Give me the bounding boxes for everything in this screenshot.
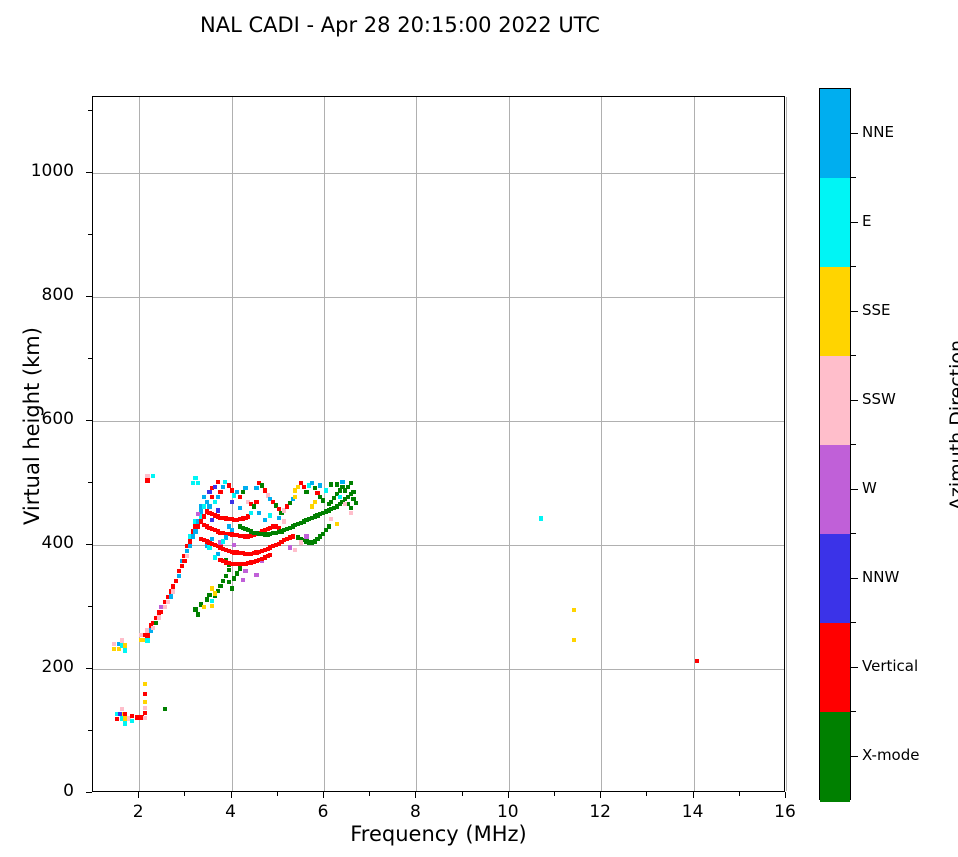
echo-marker [302,485,306,489]
echo-marker [210,604,214,608]
echo-marker [196,524,200,528]
x-tick-label: 4 [201,802,261,822]
x-tick-label: 14 [663,802,723,822]
echo-marker [171,589,175,593]
echo-marker [202,605,206,609]
colorbar-boundary-tick [851,266,856,267]
x-tick-label: 8 [385,802,445,822]
echo-marker [230,488,234,492]
colorbar-segment [820,712,850,802]
echo-marker [159,610,163,614]
echo-marker [207,545,211,549]
echo-marker [277,516,281,520]
echo-marker [185,554,189,558]
echo-marker [304,534,308,538]
colorbar-segment [820,356,850,446]
colorbar-tick-mark [851,133,858,134]
echo-marker [221,579,225,583]
x-tick-label: 16 [755,802,815,822]
echo-marker [151,626,155,630]
echo-marker [232,493,236,497]
echo-marker [143,682,147,686]
echo-marker [324,528,328,532]
x-tick-label: 2 [108,802,168,822]
echo-marker [235,490,239,494]
echo-marker [243,569,247,573]
echo-marker [193,607,197,611]
echo-marker [310,504,314,508]
echo-marker [238,506,242,510]
echo-marker [304,490,308,494]
echo-marker [288,501,292,505]
echo-marker [145,478,149,482]
colorbar-boundary-tick [851,355,856,356]
echo-marker [216,508,220,512]
echo-marker [235,571,239,575]
echo-marker [213,591,217,595]
echo-marker [207,504,211,508]
echo-marker [120,707,124,711]
echo-marker [202,495,206,499]
x-tick-mark [231,792,232,798]
colorbar-boundary-tick [851,622,856,623]
echo-marker [572,608,576,612]
echo-marker [143,716,147,720]
echo-marker [335,522,339,526]
echo-marker [327,524,331,528]
echo-marker [180,564,184,568]
echo-marker [174,579,178,583]
echo-marker [163,707,167,711]
echo-marker [213,500,217,504]
echo-marker [296,485,300,489]
echo-marker [210,518,214,522]
page-title: NAL CADI - Apr 28 20:15:00 2022 UTC [0,13,800,37]
data-points-layer [93,97,784,791]
echo-marker [263,488,267,492]
echo-marker [252,504,256,508]
echo-marker [210,495,214,499]
echo-marker [313,486,317,490]
x-tick-mark [785,792,786,798]
echo-marker [169,594,173,598]
echo-marker [210,586,214,590]
colorbar-boundary-tick [851,444,856,445]
x-minor-tick-mark [184,792,185,796]
echo-marker [213,555,217,559]
echo-marker [118,712,122,716]
echo-marker [282,508,286,512]
echo-marker [117,647,121,651]
echo-marker [216,480,220,484]
echo-marker [230,528,234,532]
echo-marker [299,540,303,544]
echo-marker [695,659,699,663]
echo-marker [115,717,119,721]
echo-marker [224,574,228,578]
echo-marker [318,483,322,487]
echo-marker [254,500,258,504]
echo-marker [166,600,170,604]
plot-area [92,96,785,792]
y-tick-label: 0 [14,781,74,801]
echo-marker [221,539,225,543]
colorbar-title: Azimuth Direction [946,265,958,585]
echo-marker [218,490,222,494]
x-axis-label: Frequency (MHz) [92,822,785,846]
echo-marker [202,504,206,508]
echo-marker [196,481,200,485]
ionogram-figure: NAL CADI - Apr 28 20:15:00 2022 UTC 2468… [0,0,958,857]
echo-marker [171,584,175,588]
y-minor-tick-mark [88,730,92,731]
echo-marker [343,502,347,506]
echo-marker [260,483,264,487]
y-tick-mark [86,668,92,669]
echo-marker [241,490,245,494]
echo-marker [185,549,189,553]
echo-marker [293,488,297,492]
colorbar [819,88,851,800]
echo-marker [282,519,286,523]
echo-marker [120,638,124,642]
echo-marker [346,485,350,489]
echo-marker [243,486,247,490]
x-tick-mark [693,792,694,798]
echo-marker [343,488,347,492]
echo-marker [221,485,225,489]
colorbar-label-w: W [862,479,877,497]
echo-marker [135,715,139,719]
echo-marker [130,714,134,718]
y-tick-label: 200 [14,657,74,677]
echo-marker [313,500,317,504]
echo-marker [340,480,344,484]
echo-marker [349,481,353,485]
echo-marker [154,621,158,625]
echo-marker [143,692,147,696]
x-tick-mark [415,792,416,798]
y-tick-mark [86,172,92,173]
echo-marker [227,483,231,487]
colorbar-segment [820,89,850,179]
x-tick-label: 6 [293,802,353,822]
echo-marker [338,495,342,499]
echo-marker [249,511,253,515]
echo-marker [196,612,200,616]
echo-marker [210,599,214,603]
echo-marker [232,543,236,547]
echo-marker [327,502,331,506]
echo-marker [351,490,355,494]
x-tick-mark [600,792,601,798]
x-tick-mark [138,792,139,798]
echo-marker [112,647,116,651]
colorbar-label-sse: SSE [862,301,891,319]
echo-marker [202,514,206,518]
echo-marker [321,498,325,502]
y-minor-tick-mark [88,358,92,359]
x-minor-tick-mark [462,792,463,796]
echo-marker [182,559,186,563]
echo-marker [123,712,127,716]
colorbar-segment [820,178,850,268]
echo-marker [324,488,328,492]
y-tick-mark [86,792,92,793]
echo-marker [143,706,147,710]
echo-marker [177,569,181,573]
y-tick-mark [86,296,92,297]
echo-marker [151,474,155,478]
echo-marker [232,576,236,580]
echo-marker [246,514,250,518]
x-tick-label: 10 [478,802,538,822]
echo-marker [354,501,358,505]
echo-marker [207,490,211,494]
colorbar-boundary-tick [851,711,856,712]
echo-marker [268,513,272,517]
echo-marker [268,553,272,557]
echo-marker [263,518,267,522]
colorbar-tick-mark [851,756,858,757]
echo-marker [349,506,353,510]
echo-marker [230,500,234,504]
y-tick-label: 1000 [14,161,74,181]
colorbar-segment [820,623,850,713]
colorbar-label-nnw: NNW [862,568,899,586]
x-tick-mark [323,792,324,798]
y-minor-tick-mark [88,110,92,111]
echo-marker [193,476,197,480]
echo-marker [218,584,222,588]
colorbar-boundary-tick [851,177,856,178]
y-axis-label: Virtual height (km) [20,266,44,586]
y-minor-tick-mark [88,606,92,607]
colorbar-tick-mark [851,222,858,223]
echo-marker [213,485,217,489]
x-minor-tick-mark [739,792,740,796]
echo-marker [188,539,192,543]
echo-marker [335,482,339,486]
echo-marker [288,545,292,549]
echo-marker [238,495,242,499]
y-tick-mark [86,544,92,545]
echo-marker [130,719,134,723]
echo-marker [177,574,181,578]
colorbar-label-nne: NNE [862,123,894,141]
echo-marker [293,495,297,499]
echo-marker [145,633,149,637]
x-minor-tick-mark [369,792,370,796]
colorbar-boundary-tick [851,533,856,534]
echo-marker [310,481,314,485]
echo-marker [572,638,576,642]
echo-marker [196,512,200,516]
echo-marker [257,511,261,515]
echo-marker [193,529,197,533]
echo-marker [157,615,161,619]
echo-marker [145,638,149,642]
echo-marker [285,504,289,508]
echo-marker [539,516,543,520]
x-minor-tick-mark [646,792,647,796]
y-tick-mark [86,420,92,421]
colorbar-tick-mark [851,489,858,490]
echo-marker [210,537,214,541]
colorbar-segment [820,445,850,535]
echo-marker [349,511,353,515]
echo-marker [227,568,231,572]
echo-marker [112,642,116,646]
echo-marker [143,700,147,704]
echo-marker [296,535,300,539]
echo-marker [123,643,127,647]
colorbar-tick-mark [851,667,858,668]
colorbar-tick-mark [851,311,858,312]
echo-marker [143,711,147,715]
echo-marker [230,586,234,590]
echo-marker [145,474,149,478]
colorbar-label-vertical: Vertical [862,657,918,675]
echo-marker [291,534,295,538]
echo-marker [207,593,211,597]
colorbar-tick-mark [851,578,858,579]
y-minor-tick-mark [88,234,92,235]
y-minor-tick-mark [88,482,92,483]
echo-marker [227,580,231,584]
echo-marker [163,605,167,609]
echo-marker [321,532,325,536]
x-tick-mark [508,792,509,798]
echo-marker [254,486,258,490]
echo-marker [123,648,127,652]
x-tick-label: 12 [570,802,630,822]
echo-marker [205,597,209,601]
echo-marker [191,534,195,538]
x-minor-tick-mark [277,792,278,796]
colorbar-segment [820,534,850,624]
echo-marker [188,544,192,548]
echo-marker [254,573,258,577]
echo-marker [216,495,220,499]
echo-marker [205,500,209,504]
colorbar-label-e: E [862,212,871,230]
echo-marker [123,721,127,725]
echo-marker [238,566,242,570]
x-minor-tick-mark [554,792,555,796]
colorbar-label-ssw: SSW [862,390,896,408]
echo-marker [191,481,195,485]
colorbar-label-x-mode: X-mode [862,746,919,764]
colorbar-tick-mark [851,400,858,401]
echo-marker [293,548,297,552]
gridline-vertical [786,97,787,791]
echo-marker [329,517,333,521]
echo-marker [241,578,245,582]
colorbar-segment [820,267,850,357]
echo-marker [329,482,333,486]
